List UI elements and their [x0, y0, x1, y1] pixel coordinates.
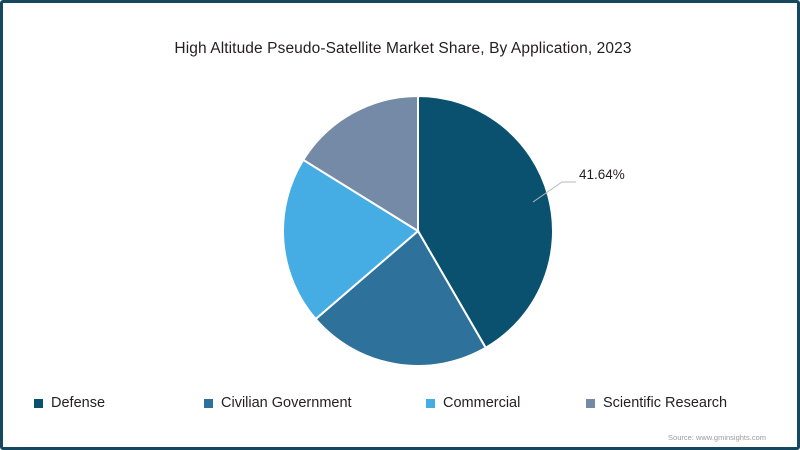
legend-label-defense: Defense [51, 396, 105, 411]
legend-swatch-civilian-government [204, 399, 213, 408]
legend-label-civilian-government: Civilian Government [221, 396, 352, 411]
legend-item-scientific-research[interactable]: Scientific Research [586, 392, 727, 414]
legend-item-civilian-government[interactable]: Civilian Government [204, 392, 352, 414]
pie-chart-svg [6, 6, 800, 386]
pie-chart: 41.64% [6, 6, 800, 386]
legend-swatch-defense [34, 399, 43, 408]
chart-canvas: High Altitude Pseudo-Satellite Market Sh… [6, 6, 794, 444]
legend-swatch-commercial [426, 399, 435, 408]
legend: Defense Civilian Government Commercial S… [6, 392, 800, 418]
legend-label-commercial: Commercial [443, 396, 520, 411]
legend-item-commercial[interactable]: Commercial [426, 392, 520, 414]
source-attribution: Source: www.gminsights.com [668, 433, 766, 442]
legend-item-defense[interactable]: Defense [34, 392, 105, 414]
pie-slices [283, 96, 553, 366]
chart-frame: High Altitude Pseudo-Satellite Market Sh… [0, 0, 800, 450]
slice-percent-label-defense: 41.64% [579, 167, 625, 182]
legend-swatch-scientific-research [586, 399, 595, 408]
legend-label-scientific-research: Scientific Research [603, 396, 727, 411]
